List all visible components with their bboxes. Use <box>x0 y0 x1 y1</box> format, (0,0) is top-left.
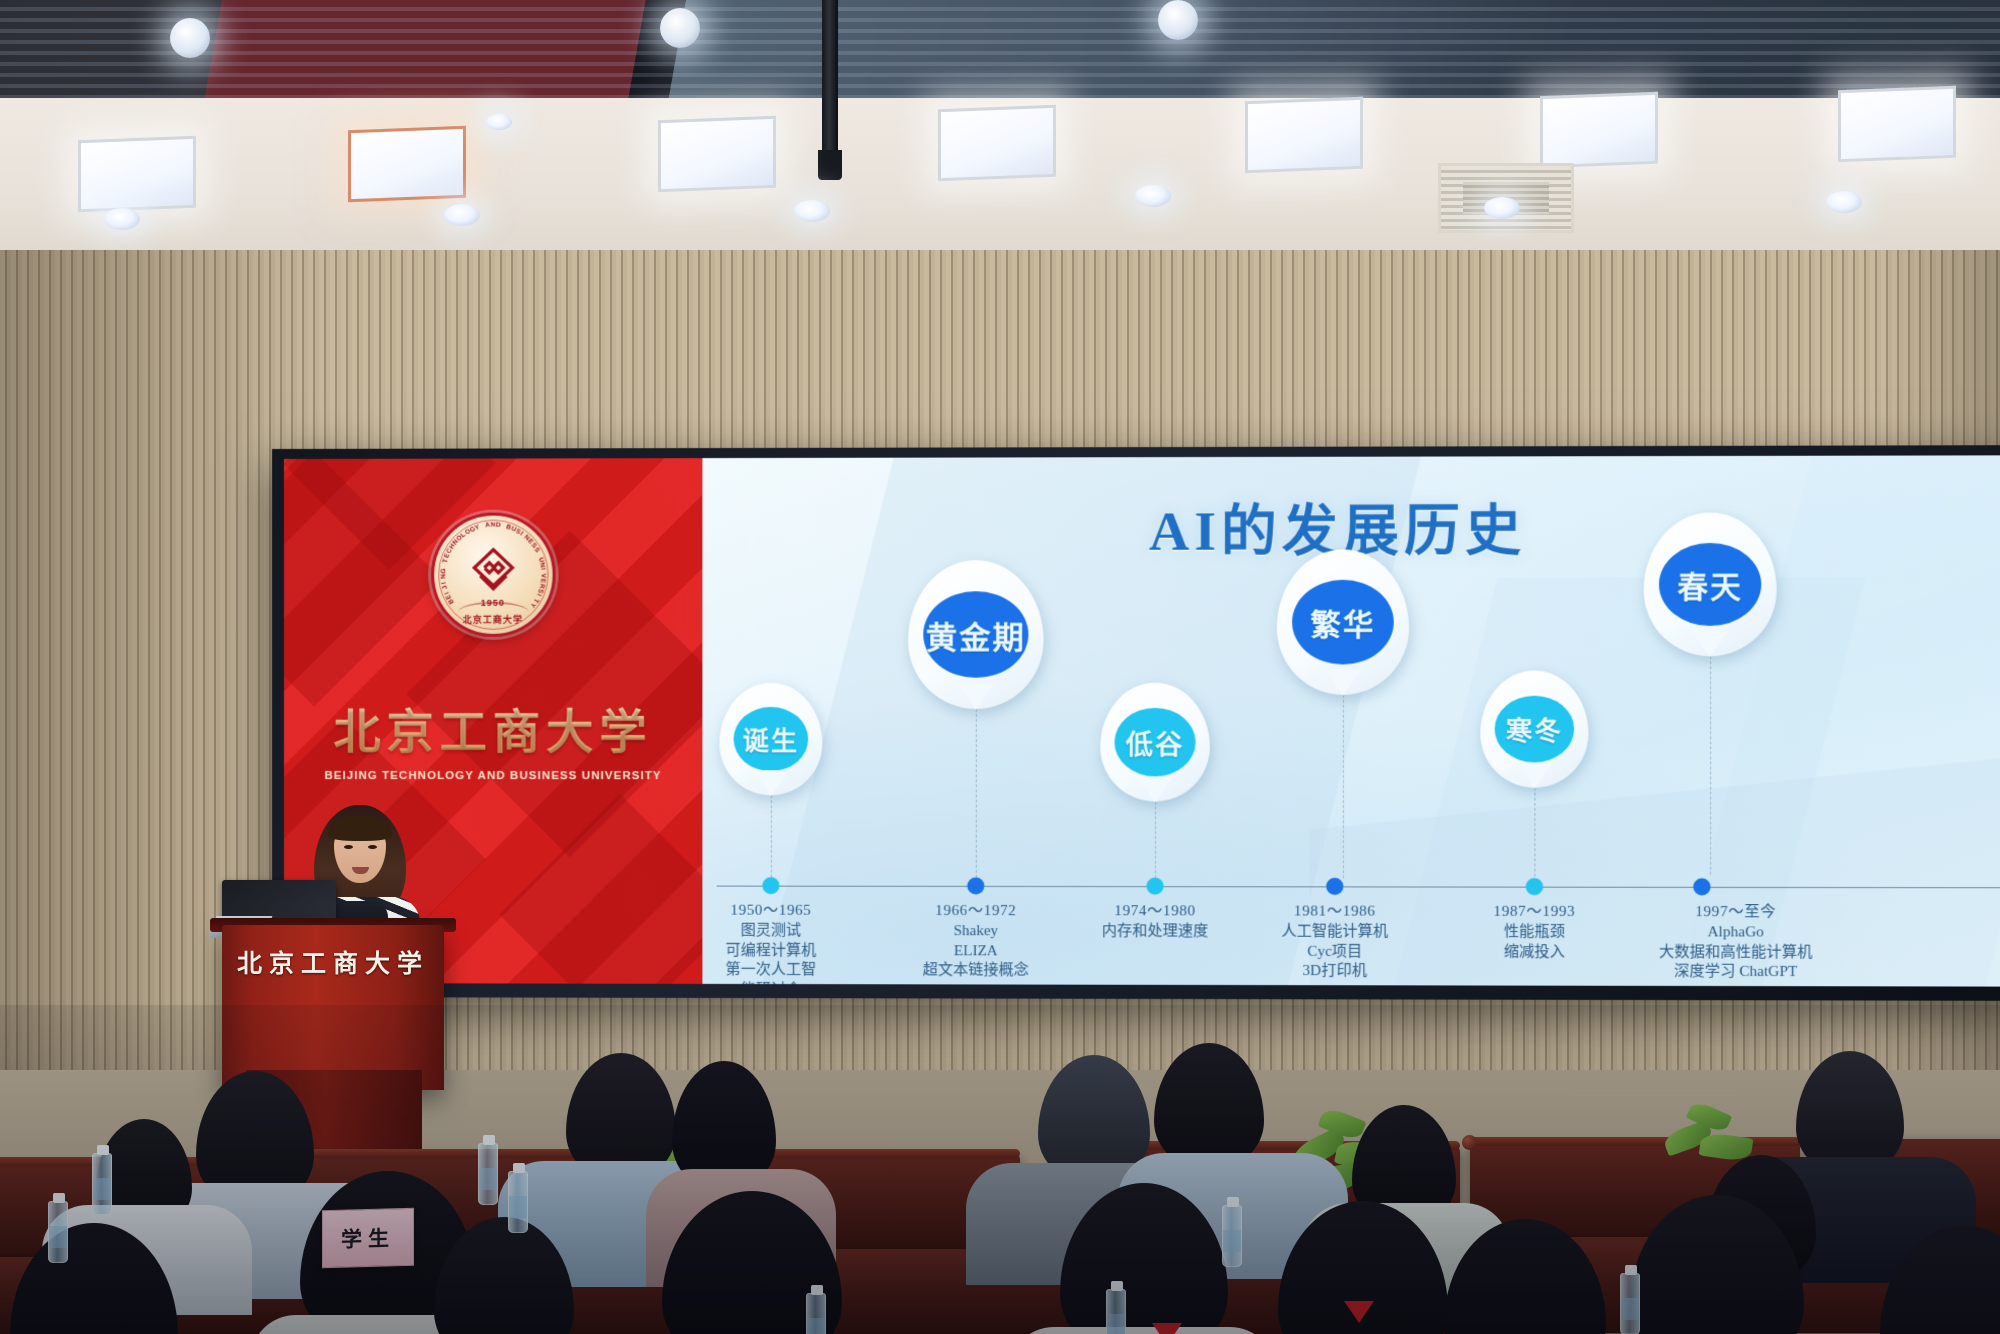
pin-label-bubble: 寒冬 <box>1495 696 1575 763</box>
ceiling-downlight <box>794 200 830 222</box>
pin-label-bubble: 繁华 <box>1292 580 1394 665</box>
water-bottle <box>48 1201 68 1263</box>
timeline-pin-4[interactable]: 寒冬 <box>1472 670 1596 886</box>
ceiling-panel-light <box>1245 97 1363 174</box>
podium-nameplate: 北京工商大学 <box>222 944 444 980</box>
timeline-axis-dot[interactable] <box>1693 878 1710 895</box>
timeline-event: 超文本链接概念 <box>923 962 1029 982</box>
timeline-entry-5: 1997～至今 AlphaGo 大数据和高性能计算机 深度学习 ChatGPT <box>1659 903 1813 983</box>
ceiling-downlight <box>486 114 512 130</box>
timeline-event: 第一次人工智 <box>726 961 817 981</box>
timeline-range: 1997～至今 <box>1659 903 1813 923</box>
ceiling-beam-tip <box>818 150 842 180</box>
ceiling-downlight <box>1826 191 1862 213</box>
ceiling-pendant-light <box>1158 0 1198 40</box>
ceiling-downlight <box>1484 197 1520 219</box>
timeline-pin-5[interactable]: 春天 <box>1635 512 1784 874</box>
timeline-event: Cyc项目 <box>1281 942 1388 962</box>
seal-chinese-name: 北京工商大学 <box>434 613 552 626</box>
audience-area: 学生 <box>0 1005 2000 1334</box>
university-name-cn: 北京工商大学 <box>334 693 653 762</box>
timeline-range: 1987～1993 <box>1493 903 1575 923</box>
timeline-event: 性能瓶颈 <box>1493 923 1575 943</box>
water-bottle <box>508 1171 528 1233</box>
timeline-event: 可编程计算机 <box>726 941 817 961</box>
timeline-range: 1950～1965 <box>726 902 817 922</box>
pin-label-bubble: 黄金期 <box>923 591 1028 678</box>
timeline-event: 深度学习 ChatGPT <box>1659 963 1813 983</box>
lecture-hall-photo: BEIJING TECHNOLOGY AND BUSINESS UNIVERSI… <box>0 0 2000 1334</box>
timeline-pin-1[interactable]: 黄金期 <box>900 560 1052 888</box>
university-name-en: BEIJING TECHNOLOGY AND BUSINESS UNIVERSI… <box>324 770 661 782</box>
pin-phase-label: 春天 <box>1677 562 1742 607</box>
timeline-axis-dot[interactable] <box>1526 878 1543 895</box>
ceiling-pendant-light <box>660 8 700 48</box>
timeline-event: 大数据和高性能计算机 <box>1659 943 1813 963</box>
timeline-event: 人工智能计算机 <box>1281 922 1388 942</box>
timeline-event: 缩减投入 <box>1493 943 1575 963</box>
timeline-event: 能研讨会 <box>726 981 817 987</box>
presentation-slide: AI的发展历史 诞生 黄金期 <box>702 455 2000 986</box>
timeline-entry-4: 1987～1993 性能瓶颈 缩减投入 <box>1493 903 1575 963</box>
timeline-axis-dot[interactable] <box>1146 878 1163 895</box>
pin-label-bubble: 诞生 <box>734 707 809 771</box>
audience-shoulders <box>1008 1327 1276 1334</box>
university-seal-logo: BEIJING TECHNOLOGY AND BUSINESS UNIVERSI… <box>431 513 555 637</box>
pin-label-bubble: 春天 <box>1659 543 1761 626</box>
timeline-axis-dot[interactable] <box>1326 878 1343 895</box>
ceiling-panel-light <box>348 126 466 203</box>
water-bottle <box>478 1143 498 1205</box>
timeline-event: 图灵测试 <box>726 922 817 942</box>
timeline-event: 3D打印机 <box>1281 962 1388 982</box>
timeline-entry-0: 1950～1965 图灵测试 可编程计算机 第一次人工智 能研讨会 <box>726 902 817 987</box>
timeline-pin-3[interactable]: 繁华 <box>1269 549 1417 878</box>
pin-phase-label: 繁华 <box>1310 600 1375 644</box>
ceiling-hanging-beam <box>822 0 838 175</box>
speaker-eye <box>368 845 377 849</box>
ceiling-panel-light <box>78 136 196 213</box>
timeline-pin-2[interactable]: 低谷 <box>1092 683 1218 889</box>
timeline-event: Shakey <box>923 922 1029 942</box>
ceiling-slat-panel <box>0 0 2000 100</box>
water-bottle <box>92 1153 112 1215</box>
speaker-eye <box>344 845 353 849</box>
timeline-axis-dot[interactable] <box>967 877 984 894</box>
ceiling-panel-light <box>1540 92 1658 169</box>
water-bottle <box>1620 1273 1640 1334</box>
timeline-entry-1: 1966～1972 Shakey ELIZA 超文本链接概念 <box>923 902 1029 982</box>
timeline-event: ELIZA <box>923 942 1029 962</box>
audience-head <box>1154 1043 1264 1169</box>
placard-label: 学生 <box>341 1222 395 1253</box>
timeline-entry-2: 1974～1980 内存和处理速度 <box>1102 902 1208 942</box>
ceiling-downlight <box>104 208 140 230</box>
timeline-axis-dot[interactable] <box>762 877 779 894</box>
ceiling-downlight <box>1135 185 1171 207</box>
timeline-range: 1974～1980 <box>1102 902 1208 922</box>
timeline-range: 1966～1972 <box>923 902 1029 922</box>
pin-phase-label: 低谷 <box>1126 722 1185 761</box>
timeline-event: AlphaGo <box>1659 923 1813 943</box>
pin-phase-label: 诞生 <box>743 720 799 757</box>
ceiling-panel-light <box>1838 86 1956 163</box>
timeline-pin-0[interactable]: 诞生 <box>710 683 831 888</box>
ceiling-panel-light <box>658 116 776 193</box>
timeline-entry-3: 1981～1986 人工智能计算机 Cyc项目 3D打印机 <box>1281 902 1388 982</box>
timeline-range: 1981～1986 <box>1281 902 1388 922</box>
desk-placard: 学生 <box>322 1208 414 1268</box>
ceiling-panel-light <box>938 105 1056 182</box>
ceiling-downlight <box>444 204 480 226</box>
ceiling-pendant-light <box>170 18 210 58</box>
water-bottle <box>1222 1205 1242 1267</box>
seal-emblem-icon <box>460 546 526 604</box>
water-bottle <box>1106 1289 1126 1334</box>
pew-knob <box>1462 1135 1477 1150</box>
led-display-screen[interactable]: BEIJING TECHNOLOGY AND BUSINESS UNIVERSI… <box>272 445 2000 1001</box>
water-bottle <box>806 1293 826 1334</box>
pin-phase-label: 黄金期 <box>926 612 1026 657</box>
pin-phase-label: 寒冬 <box>1506 710 1563 747</box>
timeline-event: 内存和处理速度 <box>1102 922 1208 942</box>
pin-label-bubble: 低谷 <box>1114 708 1195 777</box>
